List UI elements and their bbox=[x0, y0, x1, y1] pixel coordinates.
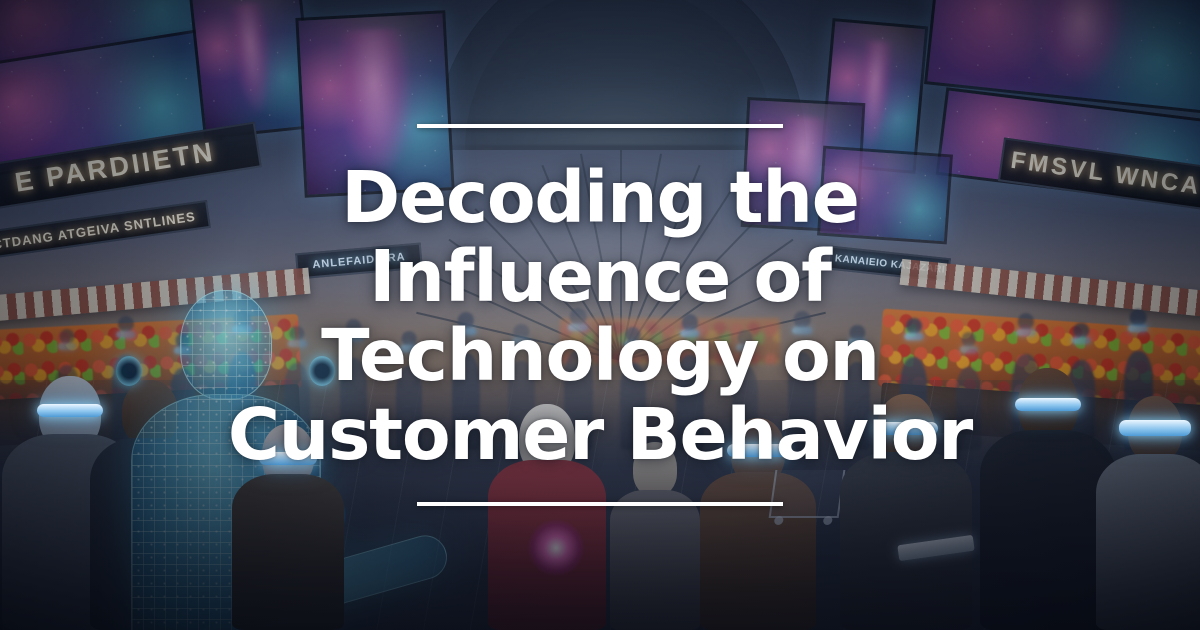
title-line-2: Influence of bbox=[228, 237, 972, 316]
hero-text-overlay: Decoding the Influence of Technology on … bbox=[0, 0, 1200, 630]
divider-bottom bbox=[417, 502, 783, 506]
title-line-3: Technology on bbox=[228, 316, 972, 395]
divider-top bbox=[417, 124, 783, 128]
page-title: Decoding the Influence of Technology on … bbox=[228, 158, 972, 475]
hero-banner: E PARDIIETN CTDANG ATGEIVA SNTLINES ANLE… bbox=[0, 0, 1200, 630]
title-line-4: Customer Behavior bbox=[228, 395, 972, 474]
title-line-1: Decoding the bbox=[228, 158, 972, 237]
